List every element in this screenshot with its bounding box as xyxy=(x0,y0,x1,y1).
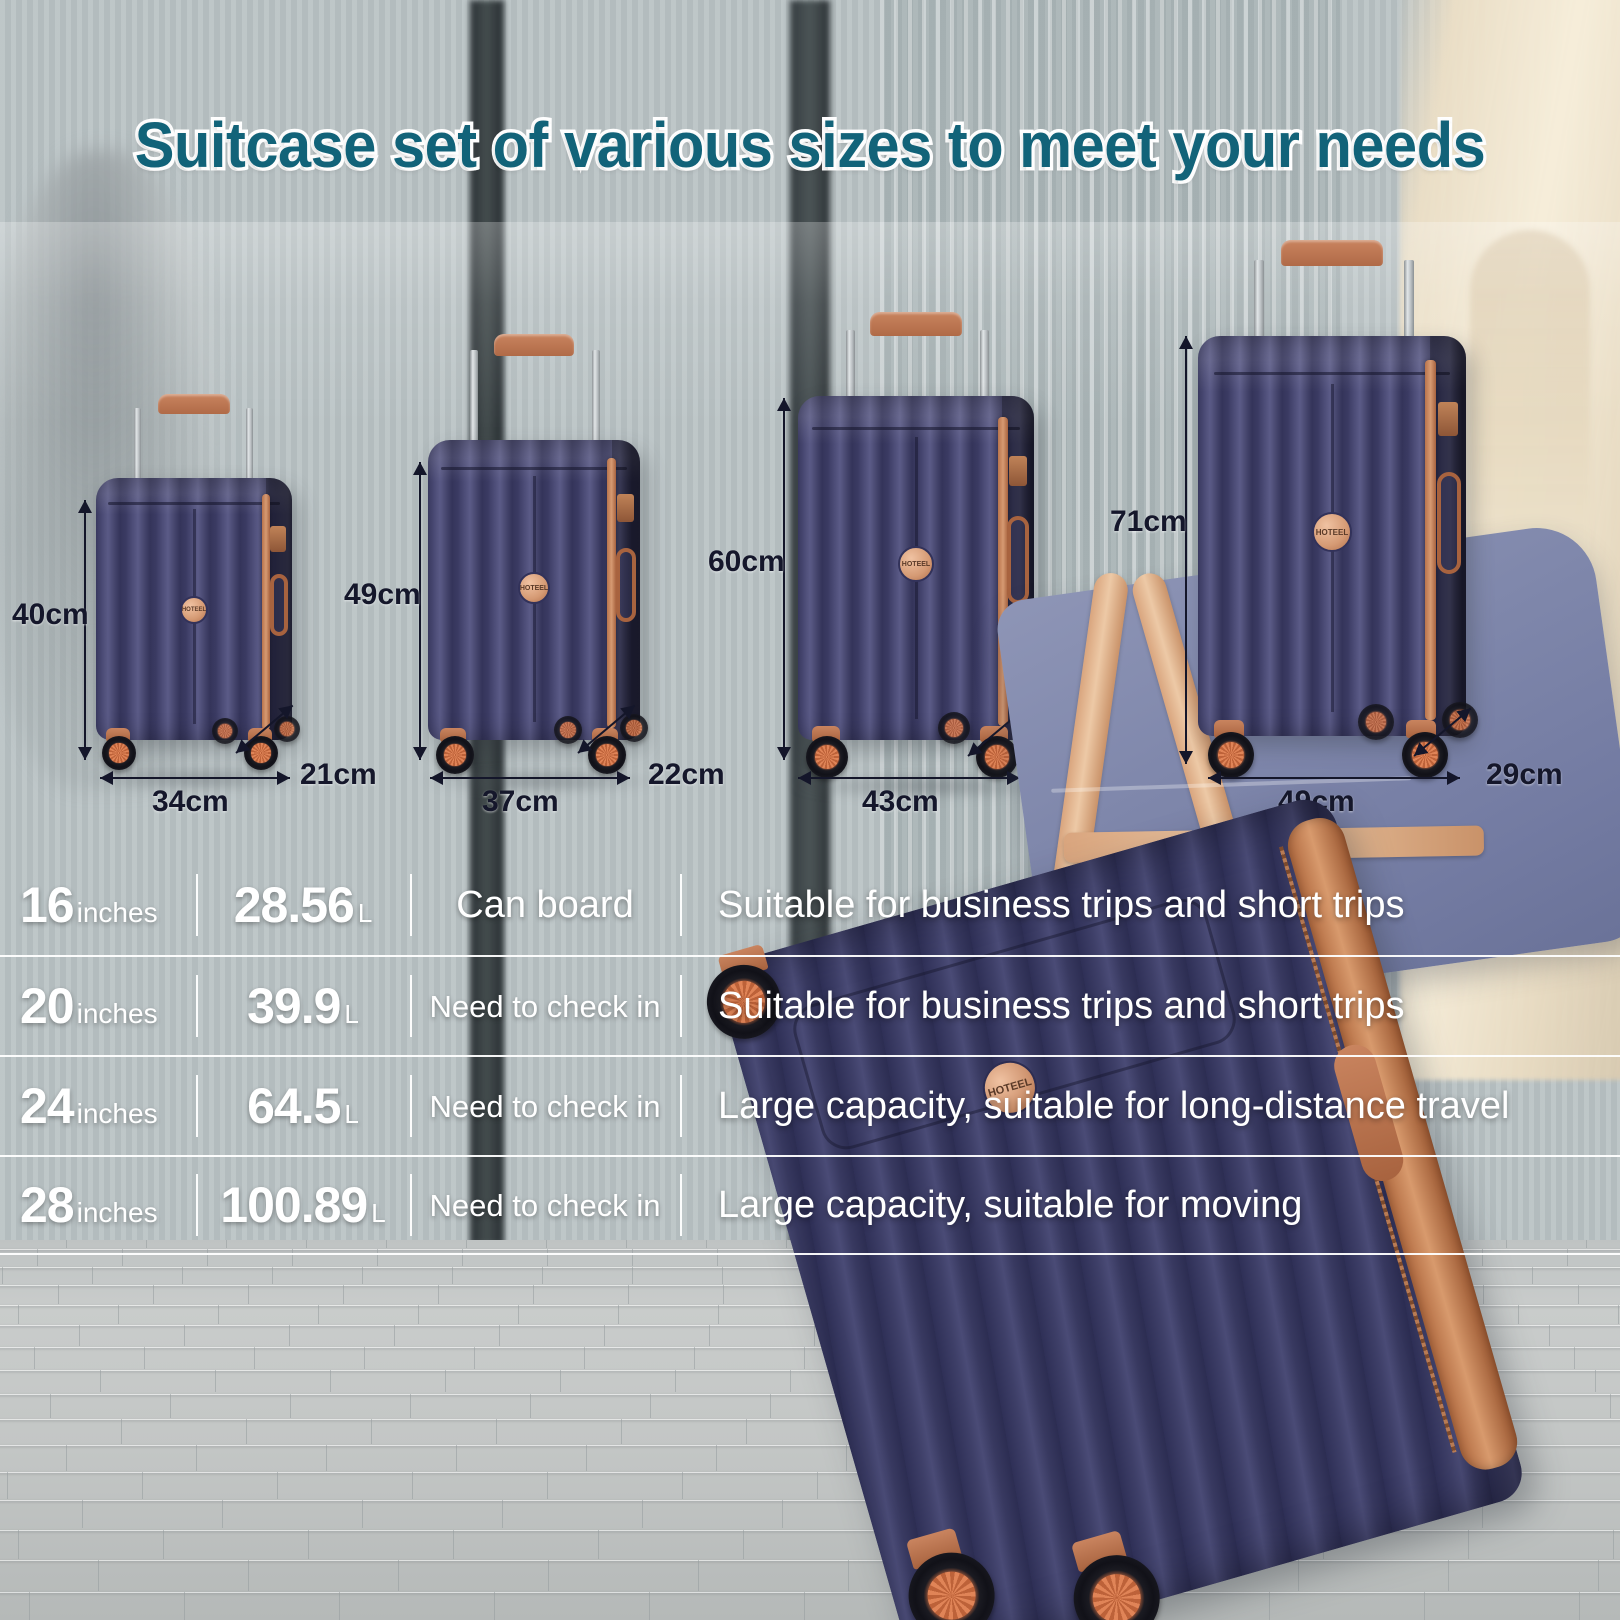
paver-seam xyxy=(1618,1305,1619,1325)
cell-capacity: 28.56 L xyxy=(196,880,410,930)
paver-seam xyxy=(1532,1267,1533,1284)
paver-seam xyxy=(1424,1592,1425,1620)
paver-seam xyxy=(502,1500,503,1528)
paver-seam xyxy=(398,1560,399,1591)
paver-seam xyxy=(804,1592,805,1620)
handle-rod-right xyxy=(1404,260,1414,344)
paver-seam xyxy=(1613,1530,1614,1560)
paver-seam xyxy=(121,1419,122,1444)
height-label-16: 40cm xyxy=(12,598,89,632)
cell-description: Large capacity, suitable for moving xyxy=(680,1186,1620,1224)
paver-seam xyxy=(530,1394,531,1418)
paver-seam xyxy=(650,1394,651,1418)
paver-seam xyxy=(418,1305,419,1325)
paver-seam xyxy=(170,1394,171,1418)
paver-seam xyxy=(649,1592,650,1620)
cell-description: Suitable for business trips and short tr… xyxy=(680,987,1620,1025)
cell-size: 28 inches xyxy=(0,1180,196,1230)
paver-seam xyxy=(362,1267,363,1284)
paver-seam xyxy=(371,1419,372,1444)
paver-seam xyxy=(1579,1592,1580,1620)
paver-seam xyxy=(100,1370,101,1393)
brand-badge: HOTEEL xyxy=(898,546,934,582)
side-grip-handle xyxy=(1007,516,1029,604)
paver-seam xyxy=(694,1347,695,1369)
size-unit: inches xyxy=(77,897,158,929)
cell-capacity: 64.5 L xyxy=(196,1081,410,1131)
paver-seam xyxy=(782,1500,783,1528)
capacity-unit: L xyxy=(358,898,372,929)
width-arrow-20 xyxy=(430,770,630,786)
paver-row xyxy=(0,1592,1620,1593)
paver-seam xyxy=(196,1445,197,1471)
page-title: Suitcase set of various sizes to meet yo… xyxy=(57,108,1564,182)
paver-seam xyxy=(218,1305,219,1325)
zipper-trim xyxy=(1425,360,1436,720)
paver-seam xyxy=(746,1419,747,1444)
paver-seam xyxy=(723,1285,724,1304)
zipper-trim xyxy=(262,494,270,730)
paver-seam xyxy=(533,1285,534,1304)
paver-seam xyxy=(82,1500,83,1528)
brand-badge: HOTEEL xyxy=(180,596,208,624)
description-text: Large capacity, suitable for moving xyxy=(718,1186,1302,1224)
handle-rod-left xyxy=(846,330,855,402)
size-value: 28 xyxy=(20,1180,74,1230)
width-arrow-28 xyxy=(1208,770,1460,786)
paver-seam xyxy=(362,1500,363,1528)
height-arrow-28 xyxy=(1178,336,1194,764)
spinner-wheel-bl xyxy=(212,718,238,744)
paver-seam xyxy=(456,1445,457,1471)
paver-seam xyxy=(743,1530,744,1560)
paver-seam xyxy=(394,1325,395,1346)
handle-rod-left xyxy=(134,408,141,482)
paver-seam xyxy=(518,1305,519,1325)
lid-seam xyxy=(812,427,1020,430)
capacity-value: 100.89 xyxy=(220,1180,367,1230)
paver-seam xyxy=(716,1445,717,1471)
spinner-wheel-fl xyxy=(102,736,136,770)
tsa-lock-icon xyxy=(617,494,634,522)
capacity-value: 64.5 xyxy=(247,1081,340,1131)
telescoping-handle-grip xyxy=(1281,240,1383,266)
boarding-status: Can board xyxy=(456,886,633,924)
spinner-wheel-bl xyxy=(1358,704,1394,740)
paver-seam xyxy=(330,1370,331,1393)
paver-seam xyxy=(308,1530,309,1560)
depth-label-20: 22cm xyxy=(648,758,725,792)
paver-seam xyxy=(1483,1285,1484,1304)
paver-seam xyxy=(804,1347,805,1369)
paver-seam xyxy=(2,1267,3,1284)
cell-description: Suitable for business trips and short tr… xyxy=(680,886,1620,924)
paver-seam xyxy=(142,1472,143,1499)
paver-seam xyxy=(58,1285,59,1304)
paver-seam xyxy=(153,1285,154,1304)
paver-seam xyxy=(642,1500,643,1528)
paver-seam xyxy=(18,1530,19,1560)
table-row: 20 inches 39.9 L Need to check in Suitab… xyxy=(0,955,1620,1055)
paver-seam xyxy=(848,1560,849,1591)
width-arrow-16 xyxy=(100,770,290,786)
spec-table: 16 inches 28.56 L Can board Suitable for… xyxy=(0,855,1620,1255)
brand-badge: HOTEEL xyxy=(518,572,550,604)
suitcase-28-inch: HOTEEL xyxy=(1198,336,1466,736)
paver-seam xyxy=(618,1305,619,1325)
paver-seam xyxy=(846,1445,847,1471)
paver-seam xyxy=(339,1592,340,1620)
size-unit: inches xyxy=(77,1098,158,1130)
suitcase-20-inch: HOTEEL xyxy=(428,440,640,740)
paver-seam xyxy=(34,1347,35,1369)
paver-seam xyxy=(184,1325,185,1346)
suitcase-16-inch: HOTEEL xyxy=(96,478,292,740)
paver-seam xyxy=(7,1472,8,1499)
paver-seam xyxy=(790,1370,791,1393)
paver-seam xyxy=(246,1419,247,1444)
paver-seam xyxy=(184,1592,185,1620)
paver-seam xyxy=(163,1530,164,1560)
paver-seam xyxy=(29,1592,30,1620)
paver-seam xyxy=(817,1472,818,1499)
cell-size: 20 inches xyxy=(0,981,196,1031)
side-grip-handle xyxy=(270,574,288,636)
paver-seam xyxy=(248,1285,249,1304)
cell-description: Large capacity, suitable for long-distan… xyxy=(680,1087,1620,1125)
paver-seam xyxy=(698,1560,699,1591)
paver-seam xyxy=(452,1267,453,1284)
handle-rod-left xyxy=(1254,260,1264,344)
width-arrow-24 xyxy=(798,770,1020,786)
paver-seam xyxy=(1598,1560,1599,1591)
height-label-20: 49cm xyxy=(344,578,421,612)
paver-seam xyxy=(364,1347,365,1369)
cell-boarding: Need to check in xyxy=(410,1190,680,1221)
description-text: Suitable for business trips and short tr… xyxy=(718,987,1404,1025)
paver-seam xyxy=(318,1305,319,1325)
paver-seam xyxy=(326,1445,327,1471)
paver-seam xyxy=(1518,1305,1519,1325)
height-arrow-24 xyxy=(776,398,792,760)
paver-row xyxy=(0,1560,1620,1561)
boarding-status: Need to check in xyxy=(430,1091,661,1122)
paver-seam xyxy=(682,1472,683,1499)
paver-seam xyxy=(98,1560,99,1591)
paver-seam xyxy=(248,1560,249,1591)
width-label-16: 34cm xyxy=(152,785,229,819)
paver-seam xyxy=(548,1560,549,1591)
boarding-status: Need to check in xyxy=(430,1190,661,1221)
zipper-trim xyxy=(607,458,616,728)
height-label-28: 71cm xyxy=(1110,505,1187,539)
paver-seam xyxy=(1578,1285,1579,1304)
paver-seam xyxy=(547,1472,548,1499)
paver-seam xyxy=(1468,1530,1469,1560)
lid-seam xyxy=(1214,372,1450,375)
width-label-24: 43cm xyxy=(862,785,939,819)
paver-seam xyxy=(718,1305,719,1325)
tsa-lock-icon xyxy=(1438,402,1458,436)
paver-seam xyxy=(1298,1560,1299,1591)
paver-seam xyxy=(496,1419,497,1444)
cell-size: 24 inches xyxy=(0,1081,196,1131)
paver-seam xyxy=(222,1500,223,1528)
size-unit: inches xyxy=(77,998,158,1030)
paver-seam xyxy=(1595,1370,1596,1393)
paver-seam xyxy=(79,1325,80,1346)
table-row: 24 inches 64.5 L Need to check in Large … xyxy=(0,1055,1620,1155)
lid-seam xyxy=(108,502,281,505)
paver-seam xyxy=(628,1285,629,1304)
paver-seam xyxy=(277,1472,278,1499)
paver-seam xyxy=(438,1285,439,1304)
paver-seam xyxy=(1610,1394,1611,1418)
spinner-wheel-bl xyxy=(554,716,582,744)
table-row: 28 inches 100.89 L Need to check in Larg… xyxy=(0,1155,1620,1255)
paver-seam xyxy=(586,1445,587,1471)
side-grip-handle xyxy=(1437,472,1461,574)
spinner-wheel-bl xyxy=(938,712,970,744)
tsa-lock-icon xyxy=(270,526,286,552)
paver-seam xyxy=(1574,1347,1575,1369)
cell-capacity: 100.89 L xyxy=(196,1180,410,1230)
paver-seam xyxy=(542,1267,543,1284)
paver-seam xyxy=(499,1325,500,1346)
infographic-canvas: Suitcase set of various sizes to meet yo… xyxy=(0,0,1620,1620)
depth-label-28: 29cm xyxy=(1486,758,1563,792)
spinner-wheel-fl xyxy=(436,736,474,774)
cell-capacity: 39.9 L xyxy=(196,981,410,1031)
paver-seam xyxy=(494,1592,495,1620)
handle-rod-right xyxy=(592,350,600,444)
description-text: Large capacity, suitable for long-distan… xyxy=(718,1087,1509,1125)
paver-seam xyxy=(722,1267,723,1284)
paver-seam xyxy=(290,1394,291,1418)
paver-seam xyxy=(445,1370,446,1393)
telescoping-handle-grip xyxy=(494,334,574,356)
paver-seam xyxy=(598,1530,599,1560)
paver-seam xyxy=(453,1530,454,1560)
size-value: 24 xyxy=(20,1081,74,1131)
paver-seam xyxy=(560,1370,561,1393)
paver-seam xyxy=(410,1394,411,1418)
paver-seam xyxy=(18,1305,19,1325)
lid-seam xyxy=(441,467,628,470)
boarding-status: Need to check in xyxy=(430,991,661,1022)
suitcase-24-inch: HOTEEL xyxy=(798,396,1034,740)
size-value: 20 xyxy=(20,981,74,1031)
paver-seam xyxy=(412,1472,413,1499)
paver-seam xyxy=(604,1325,605,1346)
paver-seam xyxy=(66,1445,67,1471)
brand-badge: HOTEEL xyxy=(1312,512,1352,552)
paver-seam xyxy=(343,1285,344,1304)
capacity-unit: L xyxy=(344,1099,358,1130)
paver-seam xyxy=(814,1325,815,1346)
handle-rod-right xyxy=(246,408,253,482)
cell-size: 16 inches xyxy=(0,880,196,930)
paver-seam xyxy=(272,1267,273,1284)
paver-seam xyxy=(584,1347,585,1369)
capacity-value: 28.56 xyxy=(234,880,354,930)
paver-seam xyxy=(1549,1325,1550,1346)
cell-boarding: Need to check in xyxy=(410,991,680,1022)
description-text: Suitable for business trips and short tr… xyxy=(718,886,1404,924)
paver-seam xyxy=(144,1347,145,1369)
cell-boarding: Can board xyxy=(410,886,680,924)
tsa-lock-icon xyxy=(1009,456,1027,486)
capacity-unit: L xyxy=(344,999,358,1030)
width-label-20: 37cm xyxy=(482,785,559,819)
paver-seam xyxy=(118,1305,119,1325)
paver-seam xyxy=(709,1325,710,1346)
height-label-24: 60cm xyxy=(708,545,785,579)
paver-seam xyxy=(215,1370,216,1393)
side-grip-handle xyxy=(616,548,636,622)
capacity-value: 39.9 xyxy=(247,981,340,1031)
size-value: 16 xyxy=(20,880,74,930)
size-unit: inches xyxy=(77,1197,158,1229)
paver-seam xyxy=(1269,1592,1270,1620)
depth-label-16: 21cm xyxy=(300,758,377,792)
paver-seam xyxy=(50,1394,51,1418)
cell-boarding: Need to check in xyxy=(410,1091,680,1122)
paver-seam xyxy=(675,1370,676,1393)
telescoping-handle-grip xyxy=(158,394,230,414)
paver-seam xyxy=(92,1267,93,1284)
table-row: 16 inches 28.56 L Can board Suitable for… xyxy=(0,855,1620,955)
paver-seam xyxy=(1448,1560,1449,1591)
paver-seam xyxy=(770,1394,771,1418)
paver-seam xyxy=(621,1419,622,1444)
capacity-unit: L xyxy=(371,1198,385,1229)
handle-rod-right xyxy=(980,330,989,402)
paver-seam xyxy=(632,1267,633,1284)
paver-seam xyxy=(474,1347,475,1369)
handle-rod-left xyxy=(470,350,478,444)
paver-seam xyxy=(182,1267,183,1284)
telescoping-handle-grip xyxy=(870,312,962,336)
paver-seam xyxy=(289,1325,290,1346)
paver-seam xyxy=(254,1347,255,1369)
